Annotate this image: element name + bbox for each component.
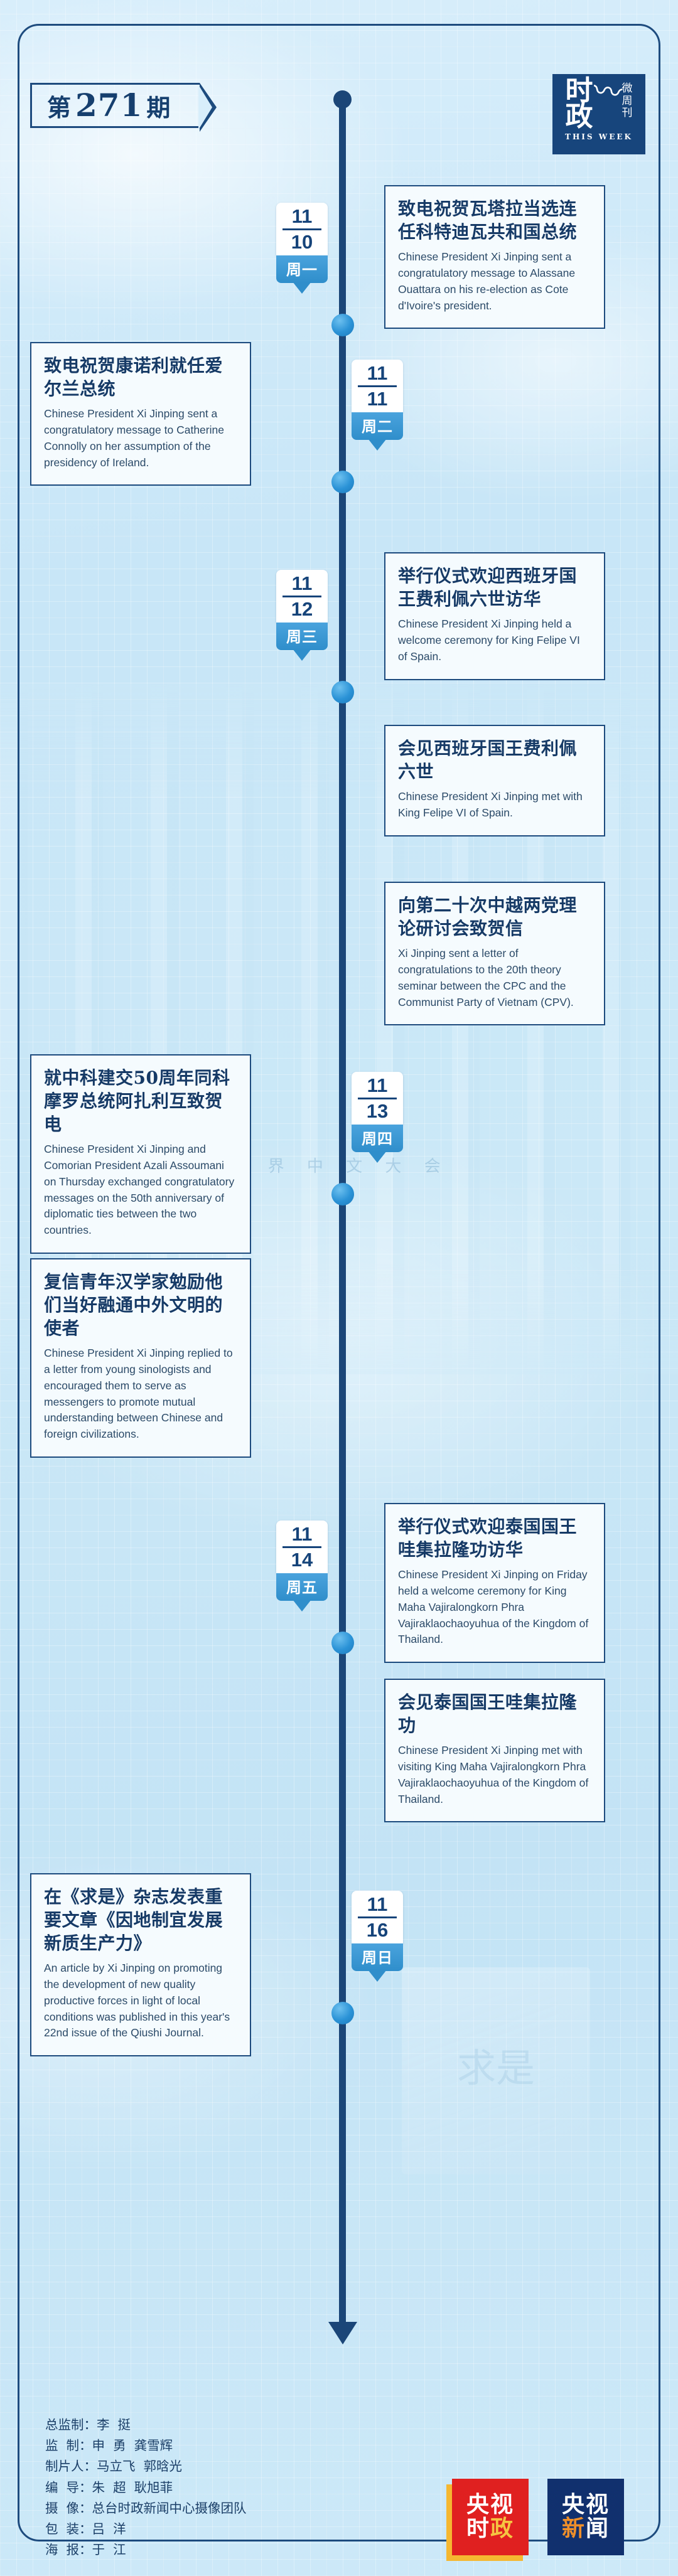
timeline-dot <box>331 2002 354 2024</box>
date-month: 11 <box>276 206 328 227</box>
date-divider <box>282 1546 321 1548</box>
date-weekday: 周一 <box>276 255 328 283</box>
date-divider <box>282 228 321 230</box>
date-marker: 1113周四 <box>352 1072 403 1152</box>
card-body: Chinese President Xi Jinping on Friday h… <box>398 1567 591 1648</box>
date-pointer-icon <box>293 1600 311 1611</box>
qiushi-plaque-text: 求是 <box>402 2036 590 2093</box>
cctv-logos: 央视 时政 央视 新闻 <box>452 2479 624 2555</box>
timeline-start-cap <box>333 90 352 109</box>
poster-root: 世 界 中 文 大 会 求是 第271期 时 政 〰 微 周 刊 THIS WE… <box>0 0 678 2576</box>
date-weekday: 周日 <box>352 1943 403 1971</box>
date-month: 11 <box>352 363 403 383</box>
issue-prefix: 第 <box>47 88 72 123</box>
timeline-card[interactable]: 复信青年汉学家勉励他们当好融通中外文明的使者Chinese President … <box>30 1258 251 1458</box>
shizheng-weekly-logo: 时 政 〰 微 周 刊 THIS WEEK <box>552 74 645 154</box>
date-marker: 1116周日 <box>352 1891 403 1971</box>
timeline-dot <box>331 1632 354 1654</box>
logo-char-kan: 刊 <box>622 107 633 120</box>
date-day: 13 <box>352 1101 403 1121</box>
cctv-shizheng-line2-b: 政 <box>490 2516 514 2541</box>
date-divider <box>282 596 321 597</box>
date-day: 10 <box>276 232 328 252</box>
issue-number: 271 <box>72 90 146 121</box>
issue-badge: 第271期 <box>30 83 200 128</box>
date-day: 16 <box>352 1920 403 1940</box>
date-day: 14 <box>276 1550 328 1570</box>
cctv-shizheng-line2-a: 时 <box>466 2516 490 2541</box>
card-body: Chinese President Xi Jinping replied to … <box>44 1345 237 1443</box>
cctv-xinwen-line2-b: 闻 <box>586 2516 610 2541</box>
date-marker: 1111周二 <box>352 360 403 440</box>
card-title: 会见泰国国王哇集拉隆功 <box>398 1691 591 1738</box>
date-weekday: 周四 <box>352 1125 403 1152</box>
card-body: Chinese President Xi Jinping sent a cong… <box>44 406 237 471</box>
date-divider <box>358 1098 397 1099</box>
date-pointer-icon <box>368 1151 387 1163</box>
card-body: Xi Jinping sent a letter of congratulati… <box>398 946 591 1011</box>
date-month: 11 <box>276 1524 328 1544</box>
issue-suffix: 期 <box>146 88 171 123</box>
timeline-card[interactable]: 致电祝贺康诺利就任爱尔兰总统Chinese President Xi Jinpi… <box>30 342 251 486</box>
date-pointer-icon <box>368 1970 387 1982</box>
card-body: Chinese President Xi Jinping met with Ki… <box>398 789 591 821</box>
card-title: 复信青年汉学家勉励他们当好融通中外文明的使者 <box>44 1271 237 1340</box>
timeline-card[interactable]: 会见西班牙国王费利佩六世Chinese President Xi Jinping… <box>384 725 605 836</box>
card-body: An article by Xi Jinping on promoting th… <box>44 1960 237 2041</box>
date-month: 11 <box>352 1076 403 1096</box>
date-month: 11 <box>276 574 328 594</box>
date-pointer-icon <box>293 649 311 661</box>
logo-char-zheng: 政 <box>566 104 592 129</box>
timeline-card[interactable]: 会见泰国国王哇集拉隆功Chinese President Xi Jinping … <box>384 1679 605 1822</box>
timeline-card[interactable]: 向第二十次中越两党理论研讨会致贺信Xi Jinping sent a lette… <box>384 882 605 1025</box>
date-day: 11 <box>352 389 403 409</box>
date-day: 12 <box>276 599 328 619</box>
card-title: 致电祝贺康诺利就任爱尔兰总统 <box>44 355 237 401</box>
card-body: Chinese President Xi Jinping met with vi… <box>398 1743 591 1808</box>
logo-char-wei: 微 <box>622 83 633 95</box>
timeline-card[interactable]: 致电祝贺瓦塔拉当选连任科特迪瓦共和国总统Chinese President Xi… <box>384 185 605 329</box>
cctv-xinwen-line2-a: 新 <box>562 2516 586 2541</box>
cctv-shizheng-logo: 央视 时政 <box>452 2479 529 2555</box>
date-divider <box>358 385 397 387</box>
date-pointer-icon <box>368 439 387 451</box>
card-body: Chinese President Xi Jinping sent a cong… <box>398 249 591 314</box>
qiushi-plaque-watermark: 求是 <box>402 1967 590 2174</box>
cctv-shizheng-line1: 央视 <box>466 2493 514 2517</box>
timeline-dot <box>331 314 354 336</box>
timeline-spine <box>339 94 346 2322</box>
card-title: 举行仪式欢迎泰国国王哇集拉隆功访华 <box>398 1515 591 1562</box>
date-weekday: 周五 <box>276 1573 328 1601</box>
card-title: 举行仪式欢迎西班牙国王费利佩六世访华 <box>398 565 591 611</box>
card-title: 在《求是》杂志发表重要文章《因地制宜发展新质生产力》 <box>44 1886 237 1955</box>
credits-block: 总监制：李 挺 监 制：申 勇 龚雪辉 制片人：马立飞 郭晗光 编 导：朱 超 … <box>45 2415 247 2560</box>
date-marker: 1112周三 <box>276 570 328 650</box>
logo-swirl-icon: 〰 <box>591 78 623 105</box>
timeline-card[interactable]: 在《求是》杂志发表重要文章《因地制宜发展新质生产力》An article by … <box>30 1873 251 2056</box>
date-weekday: 周二 <box>352 412 403 440</box>
timeline-card[interactable]: 就中科建交50周年同科摩罗总统阿扎利互致贺电Chinese President … <box>30 1054 251 1254</box>
logo-char-zhou: 周 <box>622 95 633 108</box>
date-marker: 1110周一 <box>276 203 328 283</box>
card-body: Chinese President Xi Jinping and Comoria… <box>44 1141 237 1239</box>
timeline-end-arrow-icon <box>328 2322 357 2344</box>
cctv-xinwen-logo: 央视 新闻 <box>547 2479 624 2555</box>
card-title: 会见西班牙国王费利佩六世 <box>398 737 591 784</box>
timeline-card[interactable]: 举行仪式欢迎西班牙国王费利佩六世访华Chinese President Xi J… <box>384 552 605 680</box>
timeline-card[interactable]: 举行仪式欢迎泰国国王哇集拉隆功访华Chinese President Xi Ji… <box>384 1503 605 1663</box>
card-title: 向第二十次中越两党理论研讨会致贺信 <box>398 894 591 941</box>
logo-char-shi: 时 <box>566 78 592 104</box>
date-weekday: 周三 <box>276 623 328 650</box>
date-month: 11 <box>352 1895 403 1915</box>
timeline-dot <box>331 1183 354 1205</box>
card-title: 就中科建交50周年同科摩罗总统阿扎利互致贺电 <box>44 1067 237 1136</box>
card-title: 致电祝贺瓦塔拉当选连任科特迪瓦共和国总统 <box>398 198 591 244</box>
cctv-xinwen-line1: 央视 <box>562 2493 610 2517</box>
timeline-dot <box>331 471 354 493</box>
date-pointer-icon <box>293 282 311 294</box>
logo-english-label: THIS WEEK <box>565 132 633 141</box>
date-divider <box>358 1916 397 1918</box>
timeline-dot <box>331 681 354 703</box>
card-body: Chinese President Xi Jinping held a welc… <box>398 616 591 665</box>
date-marker: 1114周五 <box>276 1520 328 1601</box>
